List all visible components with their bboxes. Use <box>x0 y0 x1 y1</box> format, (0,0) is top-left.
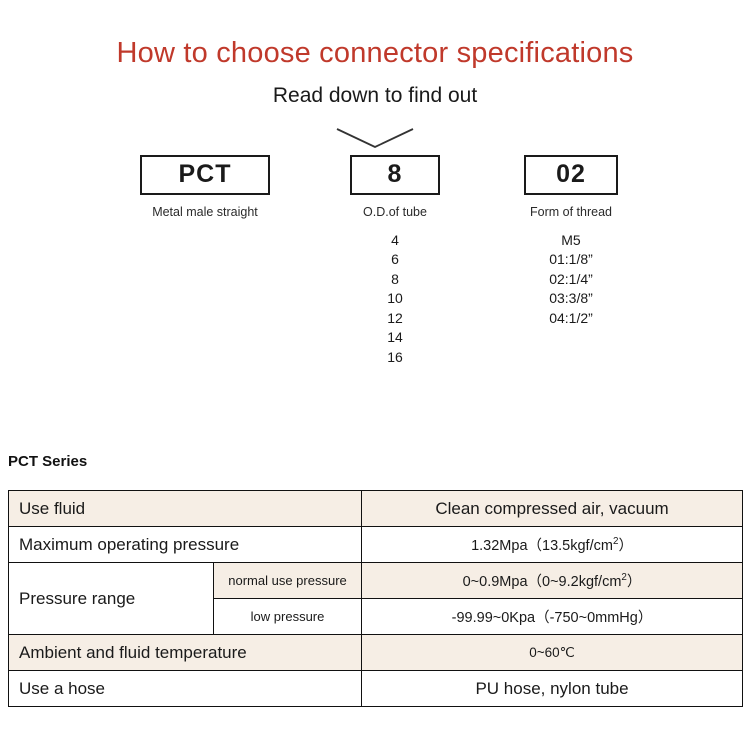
page-subtitle: Read down to find out <box>0 70 750 107</box>
spec-label-cell: Use a hose <box>9 671 362 707</box>
page-title: How to choose connector specifications <box>0 0 750 70</box>
table-row: Ambient and fluid temperature0~60℃ <box>9 635 743 671</box>
table-row: Maximum operating pressure1.32Mpa（13.5kg… <box>9 527 743 563</box>
code-options-thread-form: M501:1/8”02:1/4”03:3/8”04:1/2” <box>506 231 636 329</box>
code-option: M5 <box>506 231 636 251</box>
code-option: 12 <box>330 309 460 329</box>
code-option: 02:1/4” <box>506 270 636 290</box>
code-option: 14 <box>330 328 460 348</box>
spec-sub-label-cell: normal use pressure <box>214 563 362 599</box>
chevron-down-icon <box>0 121 750 155</box>
decoder-column-series: PCT Metal male straight <box>106 155 304 231</box>
code-option: 10 <box>330 289 460 309</box>
spec-sub-label-cell: low pressure <box>214 599 362 635</box>
code-option: 03:3/8” <box>506 289 636 309</box>
code-option: 16 <box>330 348 460 368</box>
code-option: 04:1/2” <box>506 309 636 329</box>
spec-label-cell: Ambient and fluid temperature <box>9 635 362 671</box>
spec-value-cell: PU hose, nylon tube <box>362 671 743 707</box>
code-caption-thread-form: Form of thread <box>506 205 636 220</box>
decoder-column-tube-od: 8 O.D.of tube 46810121416 <box>330 155 460 368</box>
code-option: 01:1/8” <box>506 250 636 270</box>
decoder-column-thread-form: 02 Form of thread M501:1/8”02:1/4”03:3/8… <box>506 155 636 329</box>
spec-value-cell: Clean compressed air, vacuum <box>362 491 743 527</box>
spec-value-cell: -99.99~0Kpa（-750~0mmHg） <box>362 599 743 635</box>
code-option: 4 <box>330 231 460 251</box>
spec-label-cell: Use fluid <box>9 491 362 527</box>
code-caption-series: Metal male straight <box>106 205 304 220</box>
code-option: 6 <box>330 250 460 270</box>
code-option: 8 <box>330 270 460 290</box>
specification-table-body: Use fluidClean compressed air, vacuumMax… <box>9 491 743 707</box>
table-row: Use fluidClean compressed air, vacuum <box>9 491 743 527</box>
code-options-tube-od: 46810121416 <box>330 231 460 368</box>
code-box-series: PCT <box>140 155 270 195</box>
spec-value-cell: 0~60℃ <box>362 635 743 671</box>
part-number-decoder: PCT Metal male straight 8 O.D.of tube 46… <box>0 155 750 345</box>
table-row: Use a hosePU hose, nylon tube <box>9 671 743 707</box>
spec-value-cell: 0~0.9Mpa（0~9.2kgf/cm2） <box>362 563 743 599</box>
spec-value-cell: 1.32Mpa（13.5kgf/cm2） <box>362 527 743 563</box>
spec-label-cell: Maximum operating pressure <box>9 527 362 563</box>
table-row: Pressure rangenormal use pressure0~0.9Mp… <box>9 563 743 599</box>
series-label: PCT Series <box>8 453 87 470</box>
code-caption-tube-od: O.D.of tube <box>330 205 460 220</box>
code-box-thread-form: 02 <box>524 155 618 195</box>
spec-label-cell: Pressure range <box>9 563 214 635</box>
specification-table: Use fluidClean compressed air, vacuumMax… <box>8 490 743 707</box>
code-box-tube-od: 8 <box>350 155 440 195</box>
